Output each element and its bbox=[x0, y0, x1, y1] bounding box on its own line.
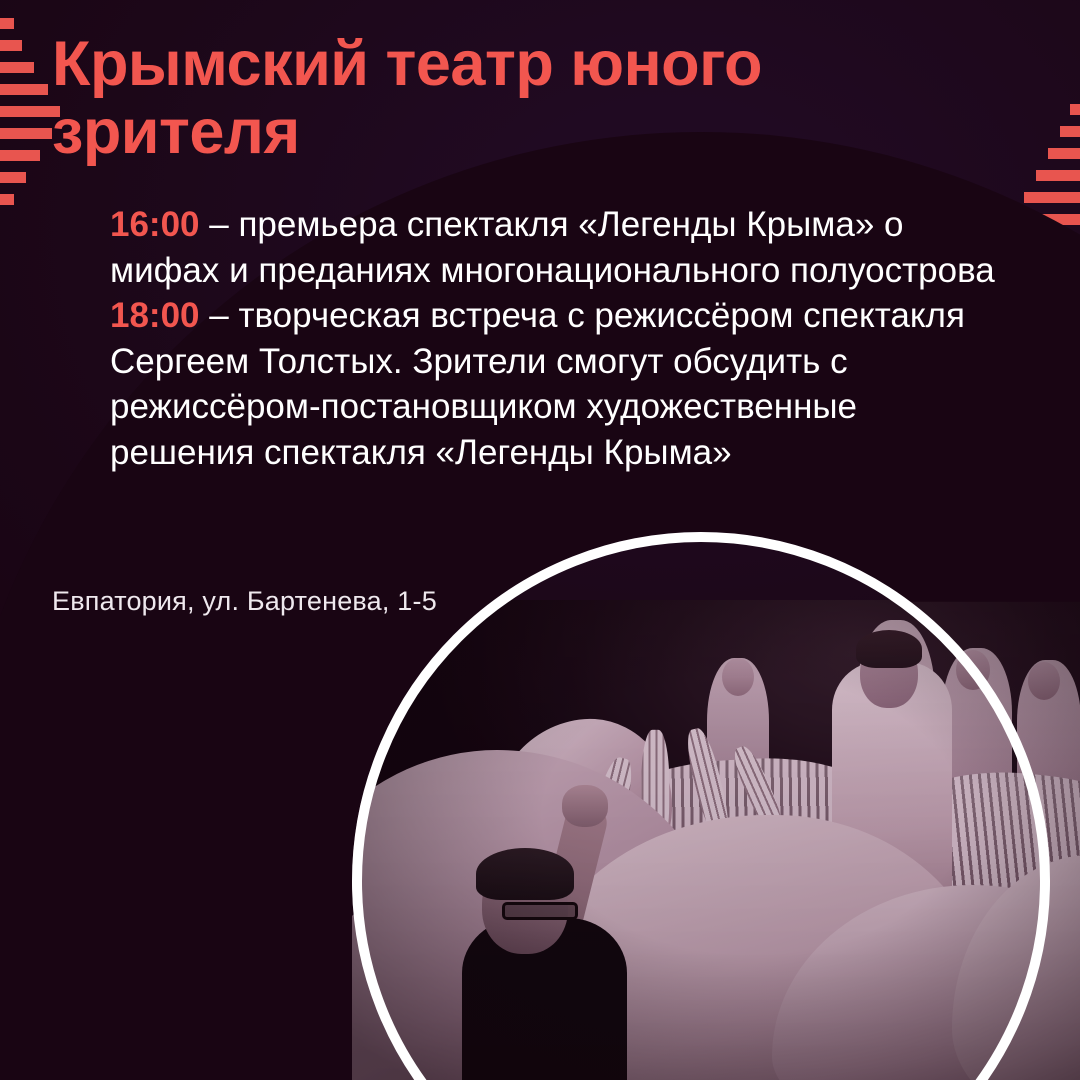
theatre-performance-photo bbox=[352, 600, 1080, 1080]
photo-image bbox=[352, 600, 1080, 1080]
equalizer-bar bbox=[0, 128, 52, 139]
equalizer-bar bbox=[1060, 126, 1080, 137]
equalizer-bar bbox=[0, 172, 26, 183]
equalizer-bar bbox=[1024, 192, 1080, 203]
schedule-item: 16:00 – премьера спектакля «Легенды Крым… bbox=[110, 202, 1010, 293]
equalizer-bar bbox=[0, 150, 40, 161]
equalizer-bar bbox=[1068, 280, 1080, 291]
venue-address: Евпатория, ул. Бартенева, 1-5 bbox=[52, 586, 437, 617]
equalizer-bar bbox=[0, 40, 22, 51]
photo-vignette bbox=[352, 600, 1080, 1080]
equalizer-bar bbox=[0, 84, 48, 95]
equalizer-bar bbox=[1036, 170, 1080, 181]
equalizer-bar bbox=[1046, 236, 1080, 247]
equalizer-bars-right bbox=[1024, 104, 1080, 302]
equalizer-bar bbox=[1058, 258, 1080, 269]
equalizer-bar bbox=[1048, 148, 1080, 159]
equalizer-bar bbox=[0, 106, 60, 117]
schedule-list: 16:00 – премьера спектакля «Легенды Крым… bbox=[110, 202, 1010, 475]
schedule-description: премьера спектакля «Легенды Крыма» о миф… bbox=[110, 205, 995, 290]
equalizer-bar bbox=[1070, 104, 1080, 115]
equalizer-bar bbox=[0, 62, 34, 73]
schedule-dash: – bbox=[200, 296, 239, 335]
schedule-item: 18:00 – творческая встреча с режиссёром … bbox=[110, 293, 1010, 475]
equalizer-bar bbox=[1034, 214, 1080, 225]
schedule-time: 18:00 bbox=[110, 296, 200, 335]
page-title: Крымский театр юного зрителя bbox=[52, 30, 932, 166]
schedule-dash: – bbox=[200, 205, 239, 244]
poster-canvas: Крымский театр юного зрителя 16:00 – пре… bbox=[0, 0, 1080, 1080]
equalizer-bars-left bbox=[0, 18, 60, 216]
equalizer-bar bbox=[0, 18, 14, 29]
schedule-description: творческая встреча с режиссёром спектакл… bbox=[110, 296, 965, 472]
equalizer-bar bbox=[0, 194, 14, 205]
schedule-time: 16:00 bbox=[110, 205, 200, 244]
